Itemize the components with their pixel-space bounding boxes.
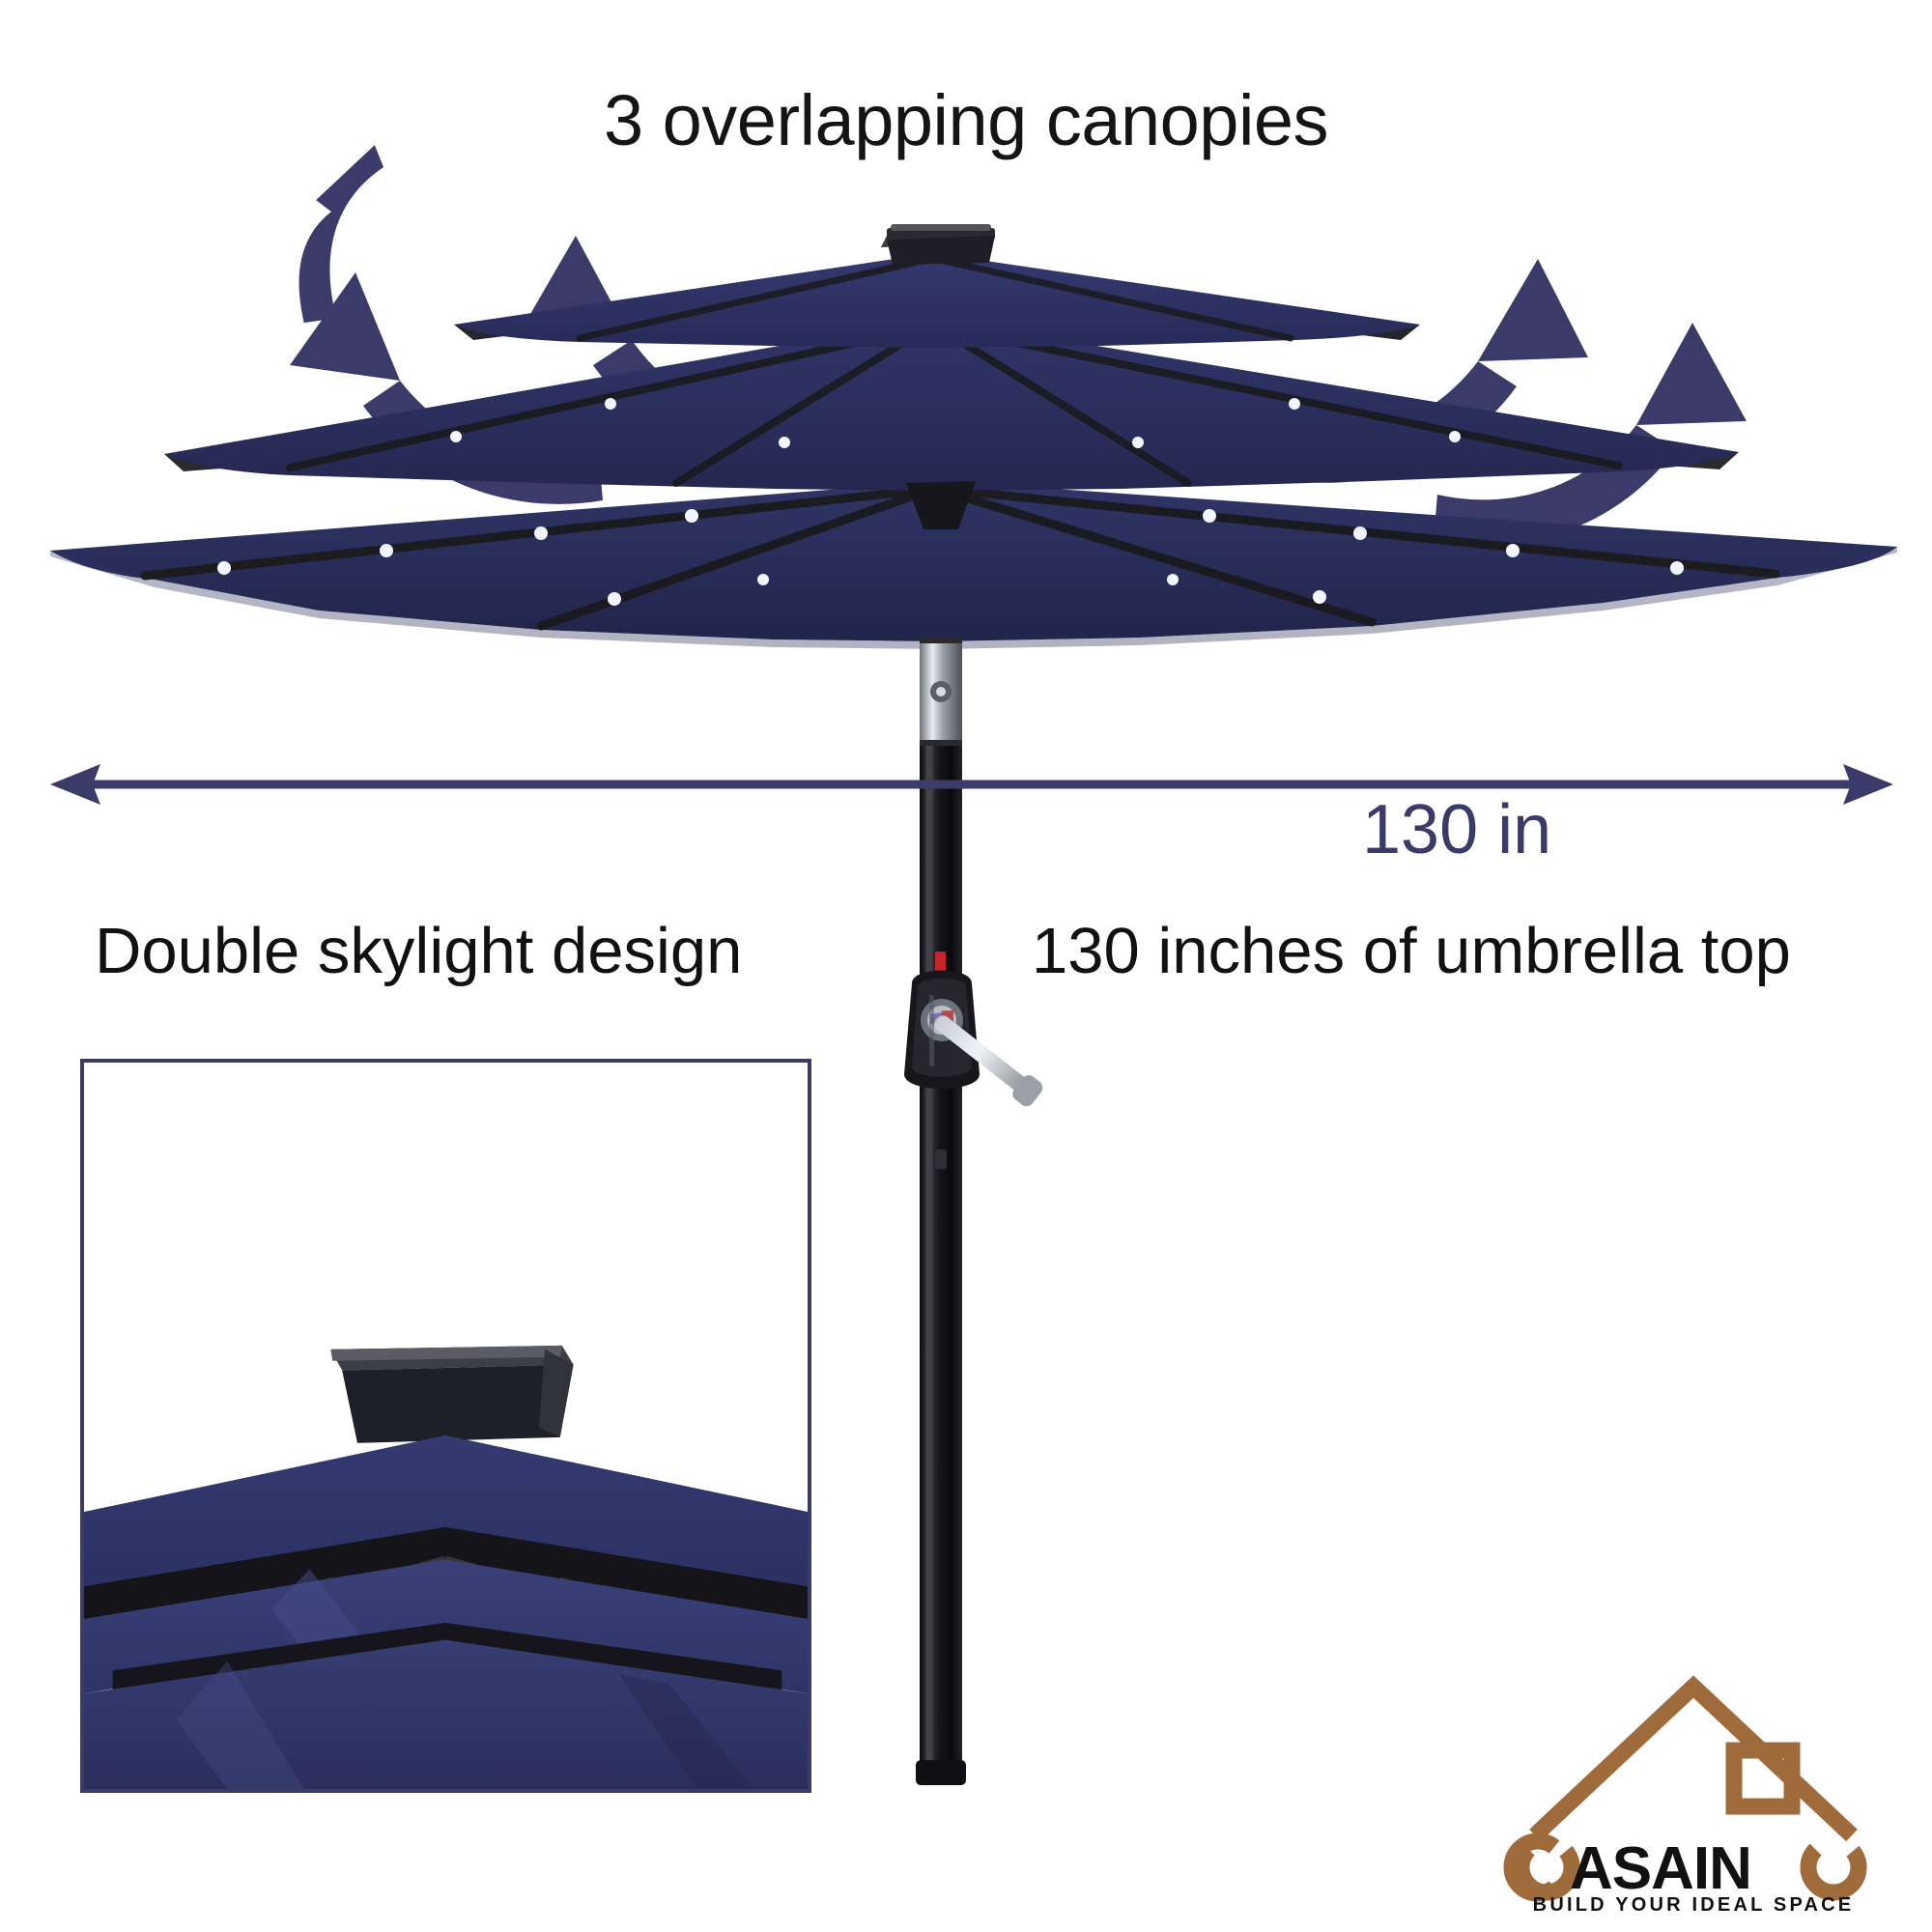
canopy-tier-bottom bbox=[50, 481, 1897, 649]
infographic-canvas: 3 overlapping canopies bbox=[0, 0, 1932, 1932]
caption-double-skylight: Double skylight design bbox=[95, 914, 742, 988]
inset-canopy-closeup bbox=[84, 1063, 808, 1789]
dimension-value-label: 130 in bbox=[1362, 790, 1551, 869]
tilt-joint bbox=[920, 638, 962, 746]
airflow-arrow-left-outer bbox=[280, 144, 454, 431]
brand-tagline: BUILD YOUR IDEAL SPACE bbox=[1533, 1894, 1855, 1913]
inset-detail-photo bbox=[80, 1059, 811, 1793]
solar-panel-finial bbox=[881, 224, 995, 265]
caption-umbrella-top-size: 130 inches of umbrella top bbox=[1032, 914, 1791, 988]
house-roof-icon bbox=[1535, 1687, 1852, 1835]
pole-slot bbox=[935, 1150, 947, 1169]
inset-solar-finial bbox=[330, 1346, 573, 1443]
brand-name: ASAIN bbox=[1511, 1832, 1868, 1902]
pole-indicator-mark bbox=[935, 952, 946, 973]
casaino-logo-mark: ASAIN BUILD YOUR IDEAL SPACE bbox=[1500, 1654, 1887, 1913]
dimension-arrow bbox=[50, 764, 1893, 805]
brand-logo: ASAIN BUILD YOUR IDEAL SPACE bbox=[1500, 1654, 1887, 1913]
brand-name-text: ASAIN bbox=[1570, 1835, 1751, 1902]
